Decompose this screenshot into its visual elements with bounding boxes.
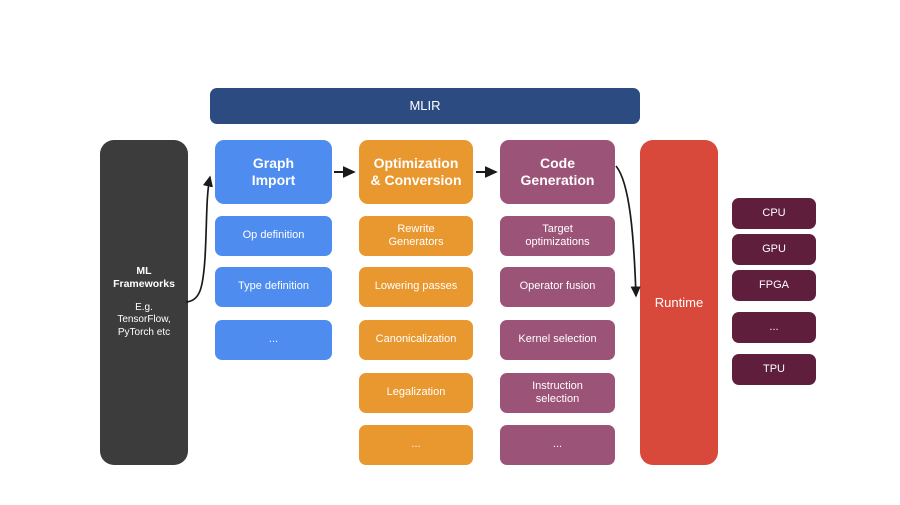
hardware-target-fpga: FPGA <box>732 270 816 301</box>
sub-item-lowering-passes: Lowering passes <box>359 267 473 307</box>
arrow-code-generation-to-runtime <box>616 166 636 296</box>
hardware-target-cpu: CPU <box>732 198 816 229</box>
sub-item-operator-fusion: Operator fusion <box>500 267 615 307</box>
sub-item-graph-import-more: ... <box>215 320 332 360</box>
sub-item-canonicalization: Canonicalization <box>359 320 473 360</box>
sub-item-code-generation-more: ... <box>500 425 615 465</box>
arrow-frameworks-to-graph-import <box>186 177 210 302</box>
sub-item-rewrite-generators: Rewrite Generators <box>359 216 473 256</box>
sub-item-kernel-selection: Kernel selection <box>500 320 615 360</box>
sub-item-op-definition: Op definition <box>215 216 332 256</box>
stage-head-code-generation: Code Generation <box>500 140 615 204</box>
diagram-canvas: MLIR ML Frameworks E.g. TensorFlow, PyTo… <box>0 0 900 505</box>
sub-item-legalization: Legalization <box>359 373 473 413</box>
ml-frameworks-title: ML Frameworks <box>113 265 175 291</box>
stage-head-graph-import: Graph Import <box>215 140 332 204</box>
sub-item-instruction-selection: Instruction selection <box>500 373 615 413</box>
hardware-target-gpu: GPU <box>732 234 816 265</box>
ml-frameworks-box: ML Frameworks E.g. TensorFlow, PyTorch e… <box>100 140 188 465</box>
sub-item-target-optimizations: Target optimizations <box>500 216 615 256</box>
hardware-target-tpu: TPU <box>732 354 816 385</box>
stage-head-optimization-conversion: Optimization & Conversion <box>359 140 473 204</box>
mlir-banner: MLIR <box>210 88 640 124</box>
runtime-box: Runtime <box>640 140 718 465</box>
sub-item-optimization-more: ... <box>359 425 473 465</box>
sub-item-type-definition: Type definition <box>215 267 332 307</box>
ml-frameworks-subtitle: E.g. TensorFlow, PyTorch etc <box>117 302 170 340</box>
hardware-target-more: ... <box>732 312 816 343</box>
